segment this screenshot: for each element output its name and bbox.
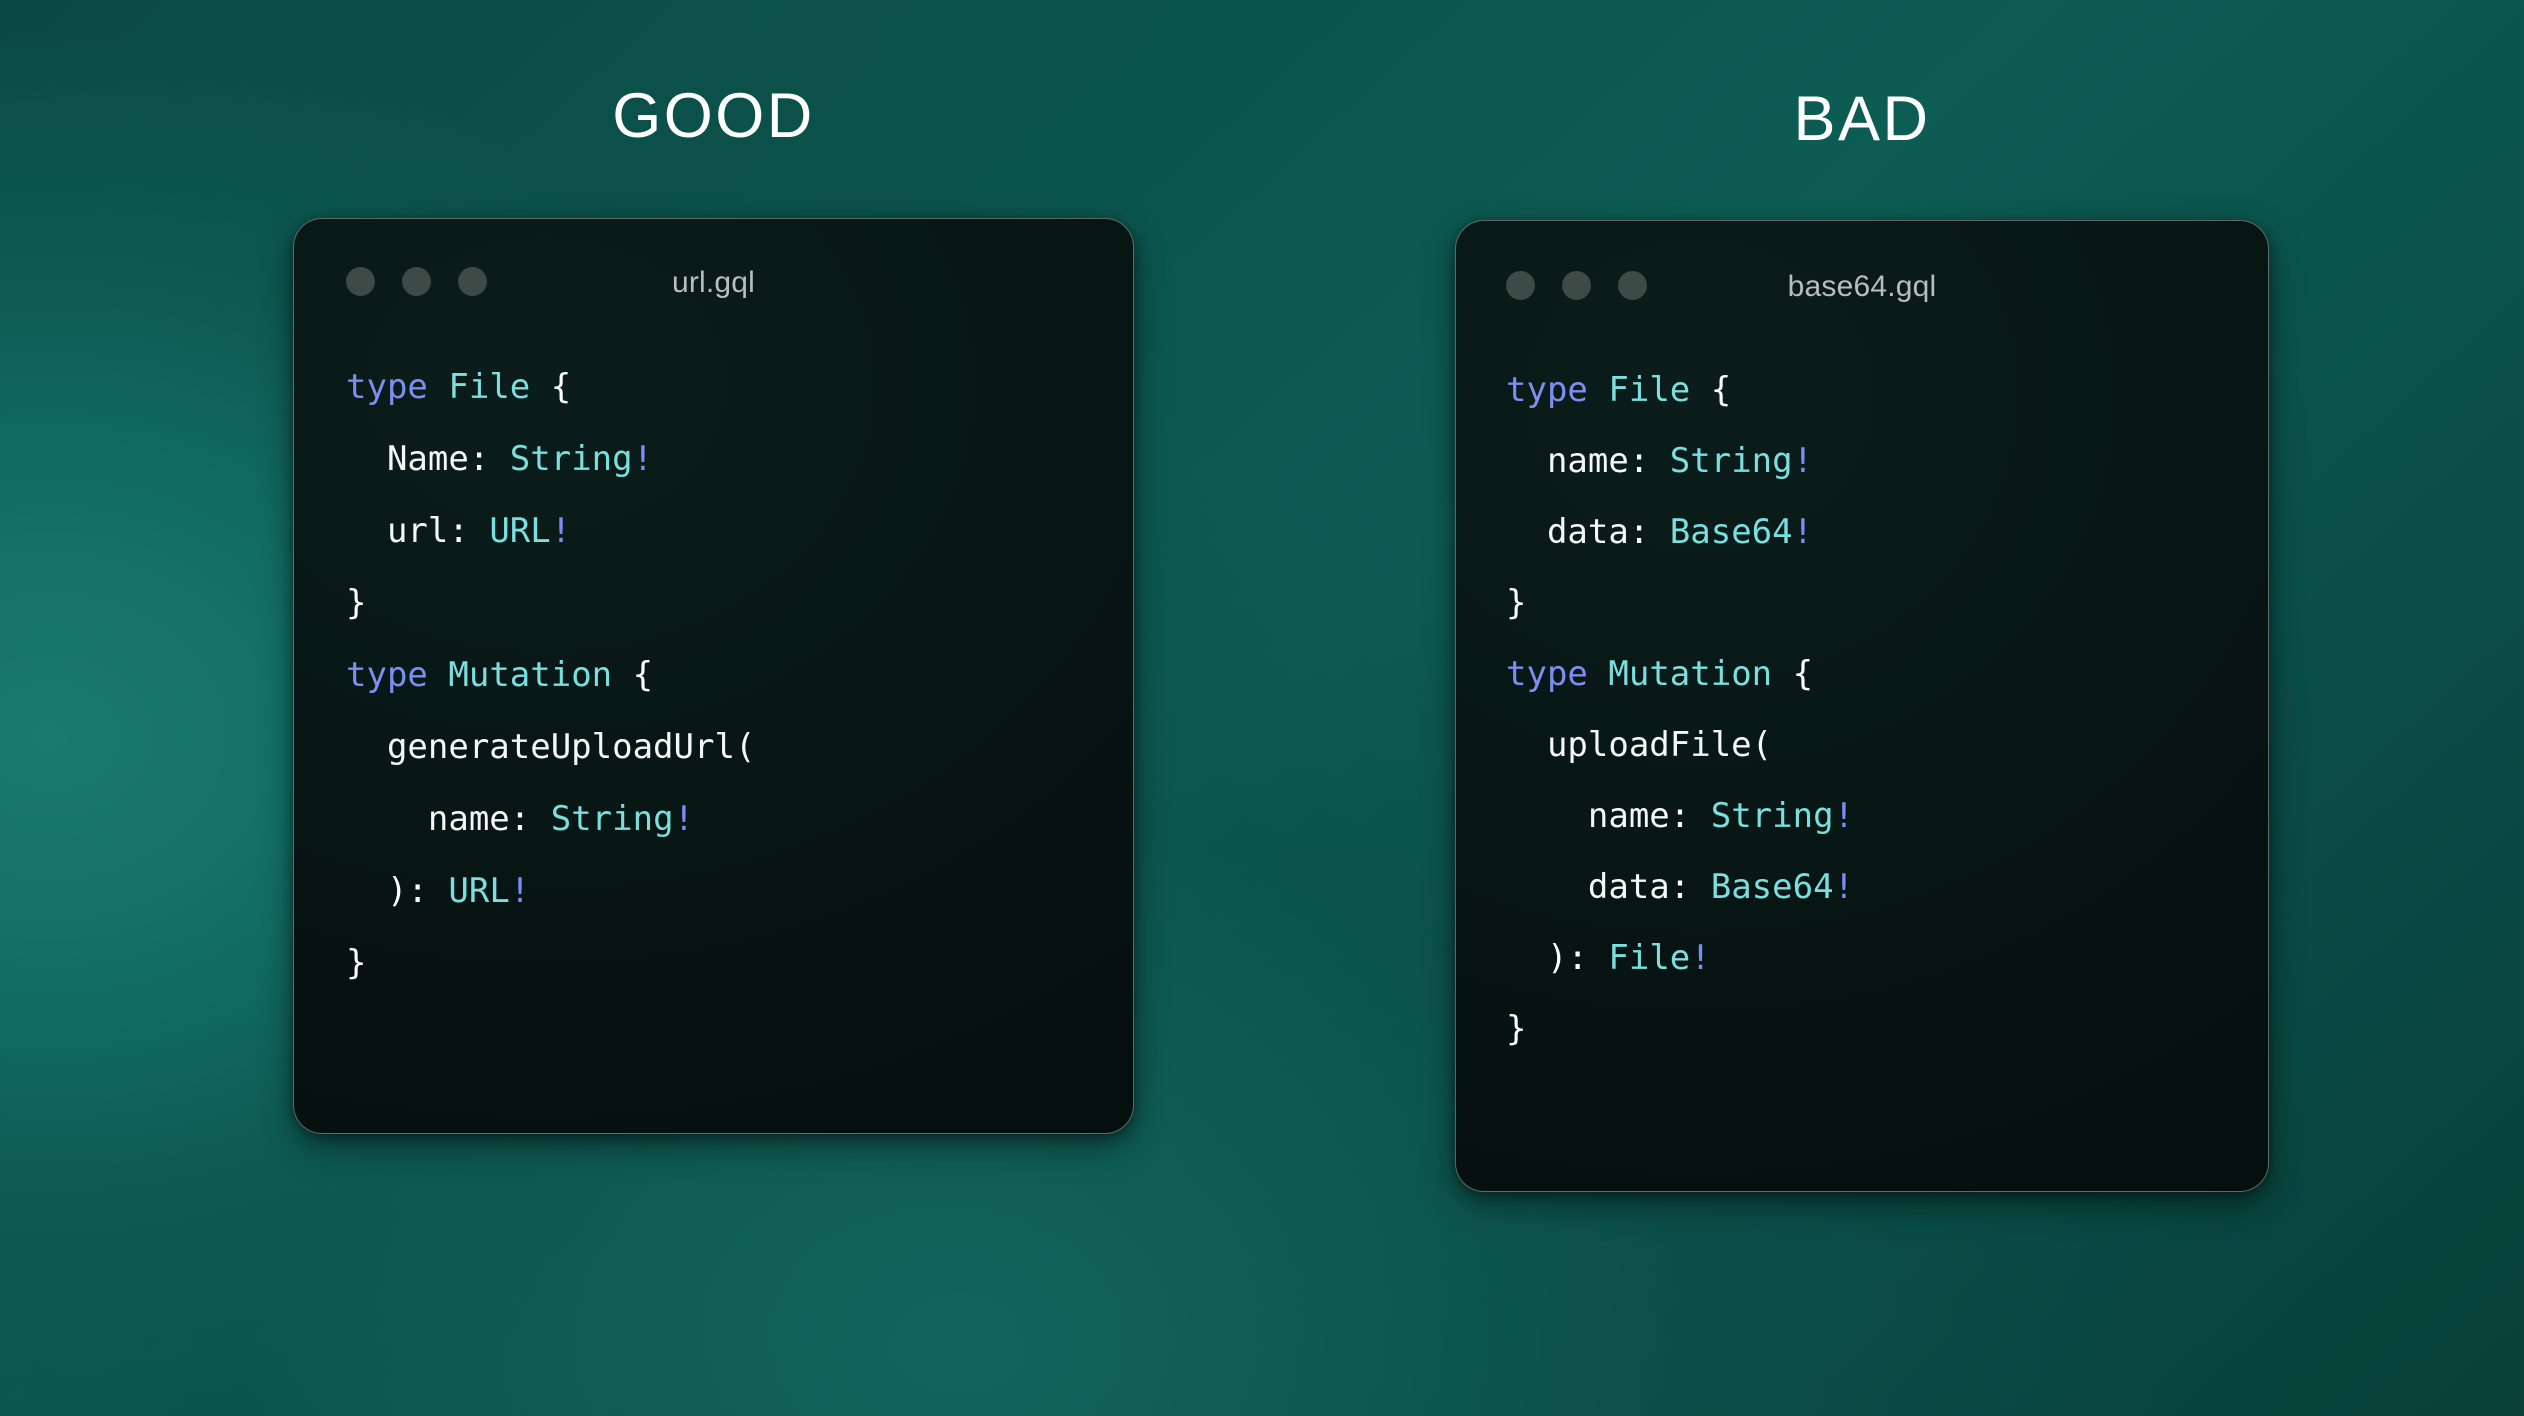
code-card-filename-bad: base64.gql	[1456, 271, 2268, 303]
code-line: }	[346, 927, 1133, 999]
code-token-punct: ):	[1547, 938, 1608, 978]
code-token-punct: ):	[387, 871, 448, 911]
code-token-type: String	[551, 799, 674, 839]
code-token-plain	[346, 511, 387, 551]
code-token-type: String	[1711, 796, 1834, 836]
code-token-plain	[1506, 441, 1547, 481]
code-token-plain	[346, 439, 387, 479]
code-token-type: Mutation	[448, 655, 612, 695]
code-token-plain	[1506, 512, 1547, 552]
code-token-punct: }	[1506, 1009, 1526, 1049]
verdict-heading-bad: BAD	[1455, 88, 2269, 151]
code-token-plain	[1506, 725, 1547, 765]
code-line: type File {	[346, 351, 1133, 423]
code-token-punct: :	[1629, 441, 1670, 481]
code-token-punct: :	[1670, 796, 1711, 836]
code-line: url: URL!	[346, 495, 1133, 567]
code-token-type: URL	[448, 871, 509, 911]
code-token-field: Name	[387, 439, 469, 479]
code-token-bang: !	[674, 799, 694, 839]
code-token-punct: }	[346, 583, 366, 623]
code-block-good: type File { Name: String! url: URL!}type…	[294, 329, 1133, 999]
code-token-punct: :	[1670, 867, 1711, 907]
code-block-bad: type File { name: String! data: Base64!}…	[1456, 333, 2268, 1065]
code-token-type: String	[510, 439, 633, 479]
comparison-stage: GOOD url.gql type File { Name: String! u…	[0, 0, 2524, 1416]
code-token-type: File	[1608, 938, 1690, 978]
code-token-type: File	[1608, 370, 1690, 410]
code-token-keyword: type	[1506, 370, 1588, 410]
code-line: ): URL!	[346, 855, 1133, 927]
code-token-type: File	[448, 367, 530, 407]
code-token-field: name	[1547, 441, 1629, 481]
code-token-plain	[530, 367, 550, 407]
code-line: data: Base64!	[1506, 497, 2268, 568]
code-line: uploadFile(	[1506, 710, 2268, 781]
code-token-bang: !	[551, 511, 571, 551]
code-line: type Mutation {	[346, 639, 1133, 711]
code-card-filename-good: url.gql	[294, 267, 1133, 299]
code-line: generateUploadUrl(	[346, 711, 1133, 783]
code-card-titlebar-bad: base64.gql	[1456, 221, 2268, 333]
code-line: type File {	[1506, 355, 2268, 426]
code-token-punct: {	[1793, 654, 1813, 694]
code-token-field: data	[1547, 512, 1629, 552]
code-token-punct: }	[1506, 583, 1526, 623]
code-line: data: Base64!	[1506, 852, 2268, 923]
code-line: type Mutation {	[1506, 639, 2268, 710]
code-line: Name: String!	[346, 423, 1133, 495]
code-token-punct: :	[469, 439, 510, 479]
code-line: }	[346, 567, 1133, 639]
code-token-keyword: type	[346, 655, 428, 695]
code-token-bang: !	[1793, 512, 1813, 552]
code-token-plain	[1506, 867, 1588, 907]
verdict-heading-good: GOOD	[293, 85, 1134, 148]
code-token-bang: !	[1690, 938, 1710, 978]
code-token-bang: !	[1834, 796, 1854, 836]
code-token-keyword: type	[346, 367, 428, 407]
code-token-punct: {	[1711, 370, 1731, 410]
code-token-plain	[346, 799, 428, 839]
code-line: }	[1506, 994, 2268, 1065]
code-token-punct: :	[1629, 512, 1670, 552]
code-line: ): File!	[1506, 923, 2268, 994]
code-token-type: String	[1670, 441, 1793, 481]
code-card-good: url.gql type File { Name: String! url: U…	[293, 218, 1134, 1134]
code-token-bang: !	[1834, 867, 1854, 907]
code-line: name: String!	[346, 783, 1133, 855]
code-token-plain	[1506, 938, 1547, 978]
code-token-field: uploadFile(	[1547, 725, 1772, 765]
code-line: }	[1506, 568, 2268, 639]
code-line: name: String!	[1506, 426, 2268, 497]
code-token-plain	[1588, 370, 1608, 410]
code-token-punct: :	[510, 799, 551, 839]
code-token-field: data	[1588, 867, 1670, 907]
code-token-type: Mutation	[1608, 654, 1772, 694]
code-token-plain	[1772, 654, 1792, 694]
code-token-plain	[346, 727, 387, 767]
code-token-bang: !	[510, 871, 530, 911]
code-line: name: String!	[1506, 781, 2268, 852]
code-token-field: name	[1588, 796, 1670, 836]
code-token-bang: !	[1793, 441, 1813, 481]
code-token-keyword: type	[1506, 654, 1588, 694]
code-token-bang: !	[633, 439, 653, 479]
code-token-plain	[1588, 654, 1608, 694]
code-token-type: Base64	[1711, 867, 1834, 907]
code-token-type: URL	[489, 511, 550, 551]
code-token-field: url	[387, 511, 448, 551]
code-token-field: generateUploadUrl(	[387, 727, 755, 767]
code-token-type: Base64	[1670, 512, 1793, 552]
code-token-punct: {	[551, 367, 571, 407]
code-token-punct: :	[448, 511, 489, 551]
code-card-titlebar-good: url.gql	[294, 219, 1133, 329]
code-token-plain	[1506, 796, 1588, 836]
code-card-bad: base64.gql type File { name: String! dat…	[1455, 220, 2269, 1192]
code-token-punct: {	[633, 655, 653, 695]
code-token-field: name	[428, 799, 510, 839]
code-token-plain	[428, 367, 448, 407]
code-token-plain	[612, 655, 632, 695]
code-token-plain	[346, 871, 387, 911]
code-token-punct: }	[346, 943, 366, 983]
code-token-plain	[428, 655, 448, 695]
code-token-plain	[1690, 370, 1710, 410]
